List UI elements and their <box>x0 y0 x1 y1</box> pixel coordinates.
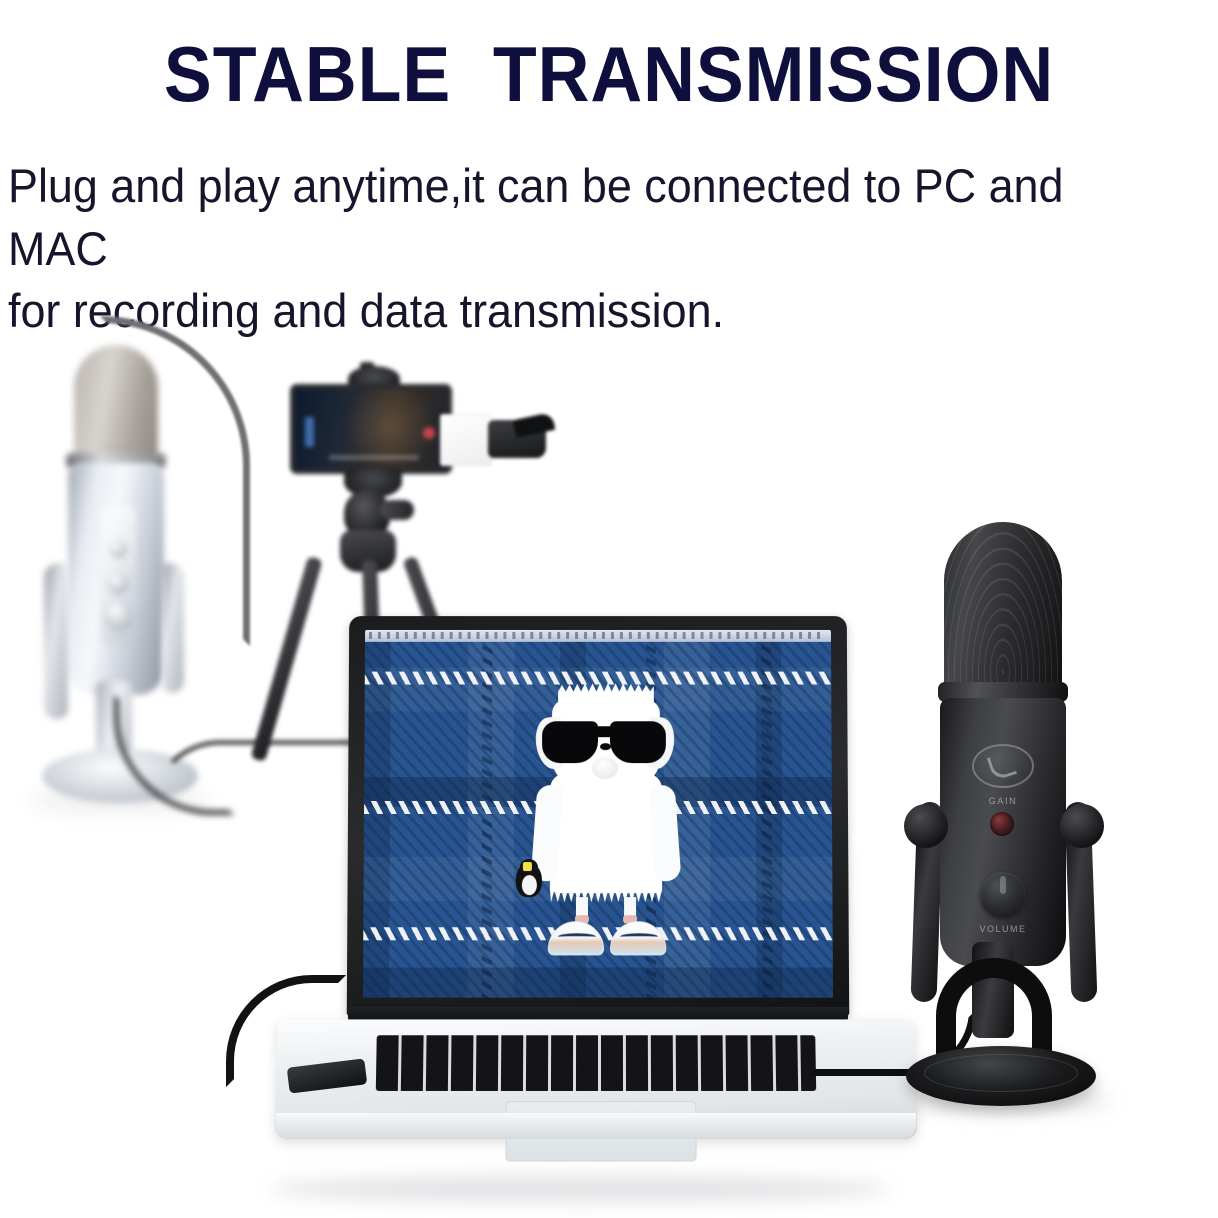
microphone-base-ring <box>924 1054 1078 1092</box>
microphone-grille <box>944 522 1062 692</box>
mascot-sneaker-left <box>548 921 604 955</box>
mascot-arm-right <box>649 784 682 882</box>
microphone-gain-label: GAIN <box>976 796 1030 806</box>
product-scene: GAIN VOLUME <box>0 300 1218 1218</box>
mascot-nose <box>600 743 611 750</box>
page-headline: STABLE TRANSMISSION <box>49 34 1170 116</box>
phone-record-indicator-icon <box>423 427 435 439</box>
smartphone <box>290 384 452 474</box>
desktop-mascot-character <box>514 682 695 972</box>
white-adapter-block <box>440 414 492 466</box>
sneaker-lace-detail <box>620 933 658 940</box>
adapter-cable-run <box>100 316 250 646</box>
penguin-badge-icon <box>523 862 532 871</box>
menu-bar-items[interactable] <box>369 632 826 639</box>
sunglasses-lens-right <box>610 721 666 763</box>
phone-ui-sidebar <box>305 417 314 447</box>
penguin-companion-icon <box>514 859 544 899</box>
laptop-lid <box>347 616 850 1016</box>
tripod-lock-lever <box>380 500 414 520</box>
silver-mic-yoke-left <box>44 563 68 719</box>
mascot-sneaker-right <box>610 921 666 955</box>
mascot-body <box>550 773 662 893</box>
laptop-front-edge <box>276 1113 916 1139</box>
shadow-laptop <box>270 1176 890 1202</box>
microphone-gain-knob[interactable] <box>990 812 1014 836</box>
laptop-screen <box>363 630 833 998</box>
laptop-computer <box>252 615 902 1175</box>
volume-knob-indicator <box>1000 876 1006 894</box>
penguin-belly <box>522 875 537 895</box>
connector-tip <box>513 412 556 438</box>
mascot-fur-fringe <box>550 881 662 903</box>
usb-adapter-assembly <box>440 408 600 488</box>
microphone-volume-label: VOLUME <box>974 924 1032 934</box>
microphone-pivot-right <box>1060 804 1104 848</box>
mascot-snout <box>592 757 618 779</box>
desktop-menu-bar[interactable] <box>365 630 831 642</box>
microphone-pivot-left <box>904 804 948 848</box>
phone-ui-toolbar <box>329 455 419 460</box>
black-usb-microphone: GAIN VOLUME <box>880 522 1130 1122</box>
laptop-keyboard[interactable] <box>376 1035 816 1091</box>
sunglasses-bridge <box>594 726 616 737</box>
sneaker-lace-detail <box>558 933 596 940</box>
sunglasses-lens-left <box>542 721 598 763</box>
